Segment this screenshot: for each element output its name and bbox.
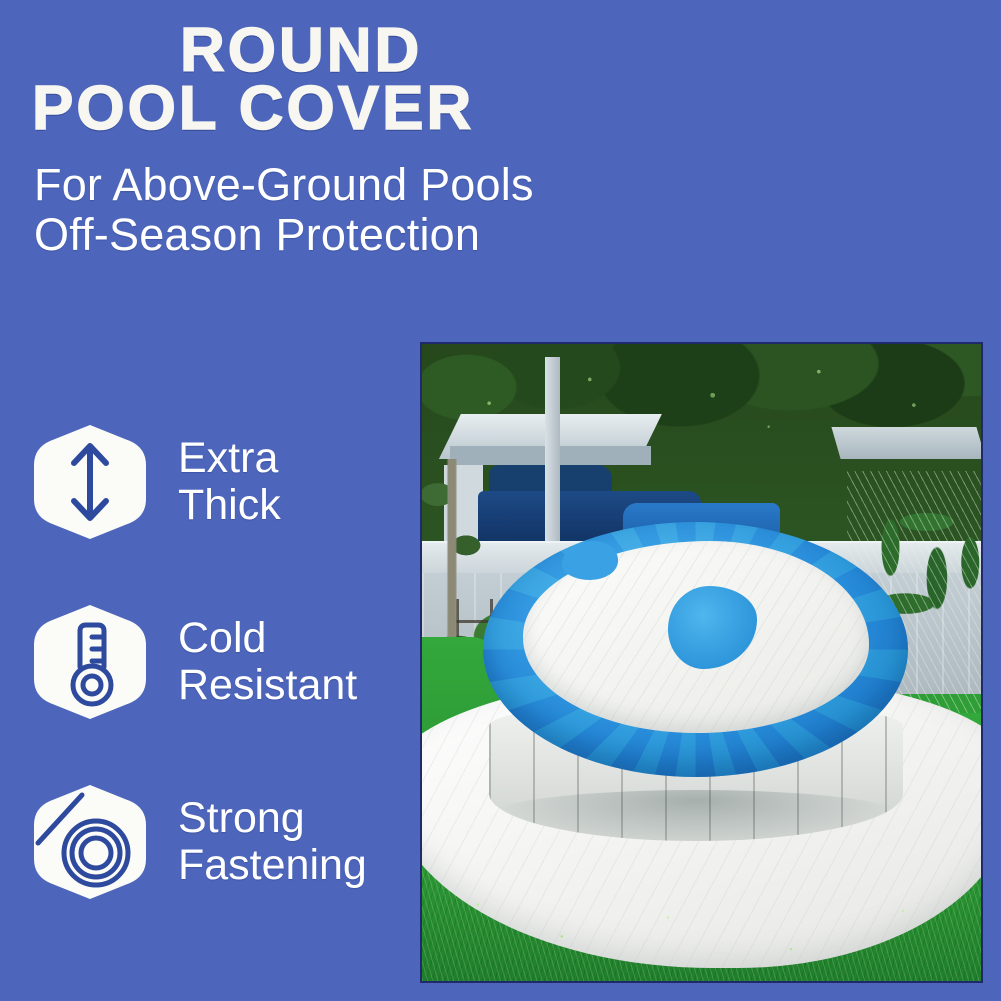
- feature-label-line-2: Fastening: [178, 842, 367, 889]
- headline-line-2: POOL COVER: [32, 80, 652, 138]
- subtitle: For Above-Ground Pools Off-Season Protec…: [34, 160, 734, 260]
- headline-line-1: ROUND: [32, 22, 652, 80]
- water-puddle-secondary: [562, 541, 618, 579]
- neighbor-roof: [831, 427, 983, 459]
- feature-label-extra-thick: Extra Thick: [178, 435, 281, 529]
- page-title: ROUND POOL COVER: [32, 22, 652, 138]
- feature-item-strong-fastening: Strong Fastening: [30, 752, 410, 932]
- product-photo: [420, 342, 983, 983]
- subtitle-line-2: Off-Season Protection: [34, 210, 734, 260]
- thermometer-icon: [30, 601, 150, 723]
- product-marketing-poster: ROUND POOL COVER For Above-Ground Pools …: [0, 0, 1001, 1001]
- grommet-eyelet-icon: [30, 781, 150, 903]
- feature-label-line-1: Extra: [178, 435, 281, 482]
- feature-label-line-2: Thick: [178, 482, 281, 529]
- feature-item-extra-thick: Extra Thick: [30, 392, 410, 572]
- feature-label-line-1: Cold: [178, 615, 357, 662]
- feature-label-line-1: Strong: [178, 795, 367, 842]
- vertical-double-arrow-icon: [30, 421, 150, 543]
- feature-label-line-2: Resistant: [178, 662, 357, 709]
- carport-post: [545, 357, 560, 554]
- feature-item-cold-resistant: Cold Resistant: [30, 572, 410, 752]
- feature-label-cold-resistant: Cold Resistant: [178, 615, 357, 709]
- feature-label-strong-fastening: Strong Fastening: [178, 795, 367, 889]
- feature-list: Extra Thick: [30, 392, 410, 932]
- pool-cover-shadow: [489, 790, 903, 841]
- subtitle-line-1: For Above-Ground Pools: [34, 160, 734, 210]
